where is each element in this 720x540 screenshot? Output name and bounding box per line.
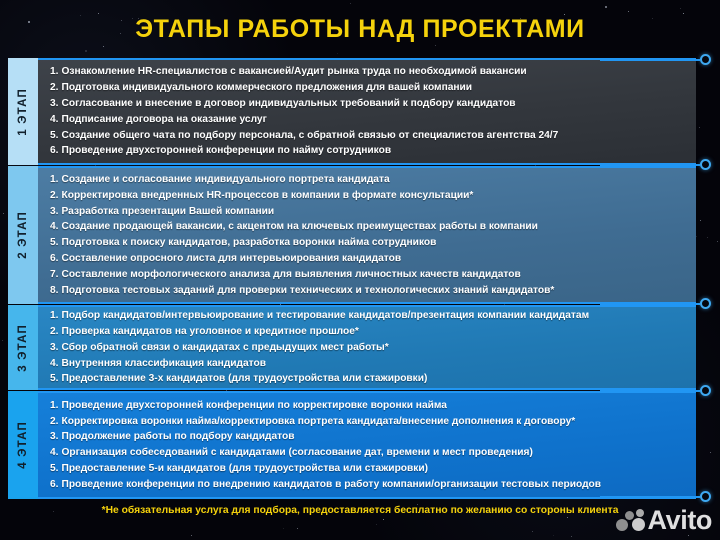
list-item-number: 3.	[50, 430, 59, 443]
connector-line	[600, 59, 700, 61]
list-item-number: 4.	[50, 446, 59, 459]
list-item-text: Разработка презентации Вашей компании	[62, 205, 275, 218]
connector-ring-icon	[700, 54, 711, 65]
list-item: 4.Создание продающей вакансии, с акценто…	[50, 219, 686, 235]
list-item-number: 2.	[50, 325, 59, 338]
list-item-number: 5.	[50, 462, 59, 475]
list-item-number: 4.	[50, 220, 59, 233]
list-item: 3.Согласование и внесение в договор инди…	[50, 96, 686, 112]
connector-ring-icon	[700, 491, 711, 502]
list-item-text: Организация собеседований с кандидатами …	[62, 446, 533, 459]
list-item: 6.Проведение двухсторонней конференции п…	[50, 143, 686, 159]
list-item-text: Проведение двухсторонней конференции по …	[62, 144, 392, 157]
stage-block-1: 1 ЭТАП1.Ознакомление HR-специалистов с в…	[8, 58, 696, 165]
list-item-text: Проверка кандидатов на уголовное и креди…	[62, 325, 359, 338]
list-item: 8.Подготовка тестовых заданий для провер…	[50, 282, 686, 298]
list-item-number: 3.	[50, 341, 59, 354]
connector-ring-icon	[700, 159, 711, 170]
list-item: 4.Подписание договора на оказание услуг	[50, 112, 686, 128]
stage-tab-label-2: 2 ЭТАП	[17, 211, 29, 259]
list-item-text: Создание общего чата по подбору персонал…	[62, 129, 559, 142]
slide-root: ЭТАПЫ РАБОТЫ НАД ПРОЕКТАМИ 1 ЭТАП1.Ознак…	[0, 0, 720, 540]
list-item: 5.Предоставление 5-и кандидатов (для тру…	[50, 461, 686, 477]
list-item-number: 2.	[50, 81, 59, 94]
connector-ring-icon	[700, 298, 711, 309]
list-item: 2.Корректировка внедренных HR-процессов …	[50, 188, 686, 204]
list-item-text: Продолжение работы по подбору кандидатов	[62, 430, 295, 443]
list-item-text: Проведение конференции по внедрению канд…	[62, 478, 602, 491]
list-item: 1.Подбор кандидатов/интервьюирование и т…	[50, 308, 686, 324]
list-item-number: 8.	[50, 284, 59, 297]
list-item-text: Подбор кандидатов/интервьюирование и тес…	[62, 309, 590, 322]
stage-items-2: 1.Создание и согласование индивидуальног…	[38, 166, 696, 304]
stage-block-3: 3 ЭТАП1.Подбор кандидатов/интервьюирован…	[8, 305, 696, 390]
list-item-text: Корректировка внедренных HR-процессов в …	[62, 189, 474, 202]
list-item-number: 5.	[50, 372, 59, 385]
list-item: 3.Продолжение работы по подбору кандидат…	[50, 429, 686, 445]
list-item-number: 5.	[50, 129, 59, 142]
list-item-number: 6.	[50, 144, 59, 157]
stage-tab-label-4: 4 ЭТАП	[17, 421, 29, 469]
list-item: 2.Проверка кандидатов на уголовное и кре…	[50, 324, 686, 340]
list-item-text: Проведение двухсторонней конференции по …	[62, 399, 447, 412]
stage-tab-label-1: 1 ЭТАП	[17, 88, 29, 136]
list-item: 6.Проведение конференции по внедрению ка…	[50, 477, 686, 493]
list-item: 4.Организация собеседований с кандидатам…	[50, 445, 686, 461]
list-item-number: 6.	[50, 252, 59, 265]
list-item-text: Составление морфологического анализа для…	[62, 268, 521, 281]
list-item-number: 2.	[50, 415, 59, 428]
list-item-number: 1.	[50, 173, 59, 186]
list-item-number: 4.	[50, 113, 59, 126]
list-item: 1.Создание и согласование индивидуальног…	[50, 172, 686, 188]
list-item-number: 3.	[50, 97, 59, 110]
list-item-text: Корректировка воронки найма/корректировк…	[62, 415, 576, 428]
connector-line	[600, 164, 700, 166]
list-item: 3.Сбор обратной связи о кандидатах с пре…	[50, 340, 686, 356]
title-bar: ЭТАПЫ РАБОТЫ НАД ПРОЕКТАМИ	[0, 0, 720, 58]
list-item: 5.Предоставление 3-х кандидатов (для тру…	[50, 371, 686, 387]
stage-tab-1[interactable]: 1 ЭТАП	[8, 58, 38, 165]
connector-ring-icon	[700, 385, 711, 396]
stage-tab-3[interactable]: 3 ЭТАП	[8, 305, 38, 390]
list-item: 3.Разработка презентации Вашей компании	[50, 203, 686, 219]
list-item-text: Предоставление 5-и кандидатов (для трудо…	[62, 462, 429, 475]
list-item: 7.Составление морфологического анализа д…	[50, 267, 686, 283]
list-item-number: 3.	[50, 205, 59, 218]
list-item: 1.Проведение двухсторонней конференции п…	[50, 398, 686, 414]
list-item-text: Подготовка индивидуального коммерческого…	[62, 81, 473, 94]
list-item: 6.Составление опросного листа для интерв…	[50, 251, 686, 267]
list-item-number: 4.	[50, 357, 59, 370]
list-item-text: Сбор обратной связи о кандидатах с преды…	[62, 341, 389, 354]
stage-tab-2[interactable]: 2 ЭТАП	[8, 166, 38, 304]
list-item-text: Предоставление 3-х кандидатов (для трудо…	[62, 372, 428, 385]
stage-block-2: 2 ЭТАП1.Создание и согласование индивиду…	[8, 166, 696, 304]
connector-line	[600, 303, 700, 305]
connector-line	[600, 390, 700, 392]
list-item-number: 7.	[50, 268, 59, 281]
list-item-number: 5.	[50, 236, 59, 249]
stage-block-4: 4 ЭТАП1.Проведение двухсторонней конфере…	[8, 391, 696, 499]
stage-items-1: 1.Ознакомление HR-специалистов с ваканси…	[38, 58, 696, 165]
list-item-text: Подписание договора на оказание услуг	[62, 113, 267, 126]
stage-items-3: 1.Подбор кандидатов/интервьюирование и т…	[38, 305, 696, 390]
list-item-text: Создание продающей вакансии, с акцентом …	[62, 220, 538, 233]
list-item: 2.Подготовка индивидуального коммерческо…	[50, 80, 686, 96]
list-item-number: 1.	[50, 65, 59, 78]
list-item: 4.Внутренняя классификация кандидатов	[50, 355, 686, 371]
stage-tab-label-3: 3 ЭТАП	[17, 324, 29, 372]
stage-tab-4[interactable]: 4 ЭТАП	[8, 391, 38, 499]
connector-line	[600, 496, 700, 498]
list-item-text: Ознакомление HR-специалистов с вакансией…	[62, 65, 527, 78]
list-item-number: 1.	[50, 309, 59, 322]
list-item-number: 2.	[50, 189, 59, 202]
list-item-number: 6.	[50, 478, 59, 491]
list-item-number: 1.	[50, 399, 59, 412]
list-item: 2.Корректировка воронки найма/корректиро…	[50, 413, 686, 429]
list-item: 1.Ознакомление HR-специалистов с ваканси…	[50, 64, 686, 80]
list-item-text: Составление опросного листа для интервью…	[62, 252, 402, 265]
stage-items-4: 1.Проведение двухсторонней конференции п…	[38, 391, 696, 499]
list-item-text: Подготовка тестовых заданий для проверки…	[62, 284, 555, 297]
footnote: *Не обязательная услуга для подбора, пре…	[0, 505, 720, 516]
list-item: 5.Подготовка к поиску кандидатов, разраб…	[50, 235, 686, 251]
list-item-text: Подготовка к поиску кандидатов, разработ…	[62, 236, 437, 249]
list-item: 5.Создание общего чата по подбору персон…	[50, 127, 686, 143]
list-item-text: Создание и согласование индивидуального …	[62, 173, 390, 186]
list-item-text: Внутренняя классификация кандидатов	[62, 357, 267, 370]
list-item-text: Согласование и внесение в договор индиви…	[62, 97, 516, 110]
page-title: ЭТАПЫ РАБОТЫ НАД ПРОЕКТАМИ	[135, 15, 585, 44]
